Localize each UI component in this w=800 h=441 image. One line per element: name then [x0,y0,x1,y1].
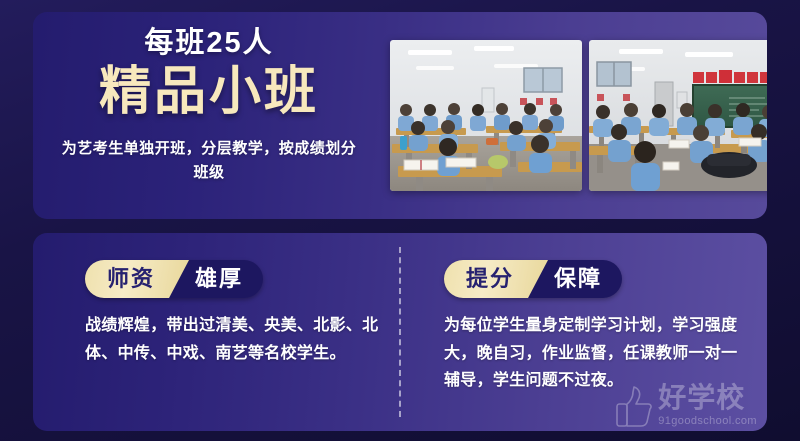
badge-white-label: 保障 [548,260,602,298]
poster-root: 每班25人 精品小班 为艺考生单独开班，分层教学，按成绩划分班级 [0,0,800,441]
feature-body-teachers: 战绩辉煌，带出过清美、央美、北影、北体、中传、中戏、南艺等名校学生。 [85,312,386,367]
feature-body-score: 为每位学生量身定制学习计划，学习强度大，晚自习，作业监督，任课教师一对一辅导，学… [444,312,745,395]
headline-big: 精品小班 [33,62,385,123]
hero-card: 每班25人 精品小班 为艺考生单独开班，分层教学，按成绩划分班级 [33,12,767,219]
features-card: 师资雄厚 战绩辉煌，带出过清美、央美、北影、北体、中传、中戏、南艺等名校学生。 … [33,233,767,431]
feature-badge-score: 提分保障 [444,260,622,298]
feature-column-score: 提分保障 为每位学生量身定制学习计划，学习强度大，晚自习，作业监督，任课教师一对… [416,233,767,431]
classroom-photo-2 [589,40,767,191]
classroom-photo-1 [390,40,582,191]
badge-white-label: 雄厚 [189,260,243,298]
headline-subtitle: 为艺考生单独开班，分层教学，按成绩划分班级 [33,137,385,184]
badge-gold-label: 师资 [85,260,189,298]
feature-badge-teachers: 师资雄厚 [85,260,263,298]
classroom-front-view-image [390,40,582,191]
badge-gold-label: 提分 [444,260,548,298]
feature-column-teachers: 师资雄厚 战绩辉煌，带出过清美、央美、北影、北体、中传、中戏、南艺等名校学生。 [33,233,416,431]
headline-block: 每班25人 精品小班 为艺考生单独开班，分层教学，按成绩划分班级 [33,28,385,185]
features-columns: 师资雄厚 战绩辉煌，带出过清美、央美、北影、北体、中传、中戏、南艺等名校学生。 … [33,233,767,431]
column-divider [399,247,401,417]
classroom-back-view-image [589,40,767,191]
headline-small: 每班25人 [33,28,385,60]
